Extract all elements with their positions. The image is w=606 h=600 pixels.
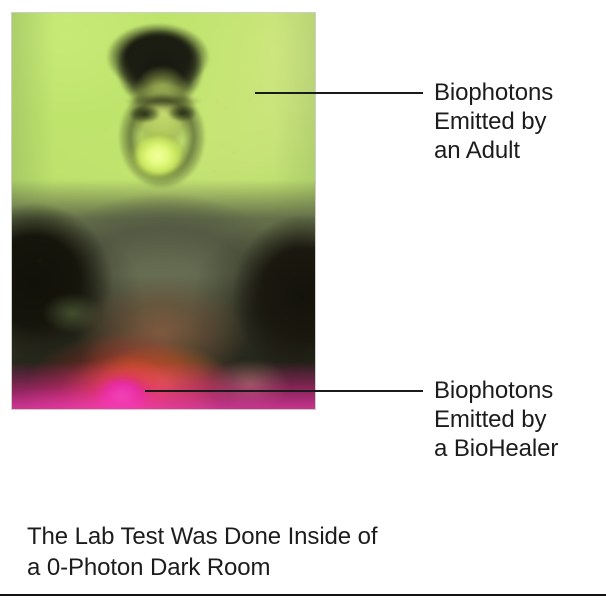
figure-canvas: Biophotons Emitted by an Adult Biophoton…	[0, 0, 606, 600]
callout-label-adult: Biophotons Emitted by an Adult	[434, 78, 553, 165]
figure-caption: The Lab Test Was Done Inside of a 0-Phot…	[27, 521, 377, 583]
bottom-divider-rule	[0, 594, 606, 596]
leader-line-adult	[255, 92, 423, 94]
biophoton-lab-photograph	[12, 13, 315, 409]
callout-label-biohealer: Biophotons Emitted by a BioHealer	[434, 376, 558, 463]
leader-line-biohealer	[145, 390, 423, 392]
photo-soft-focus-overlay	[12, 13, 315, 409]
